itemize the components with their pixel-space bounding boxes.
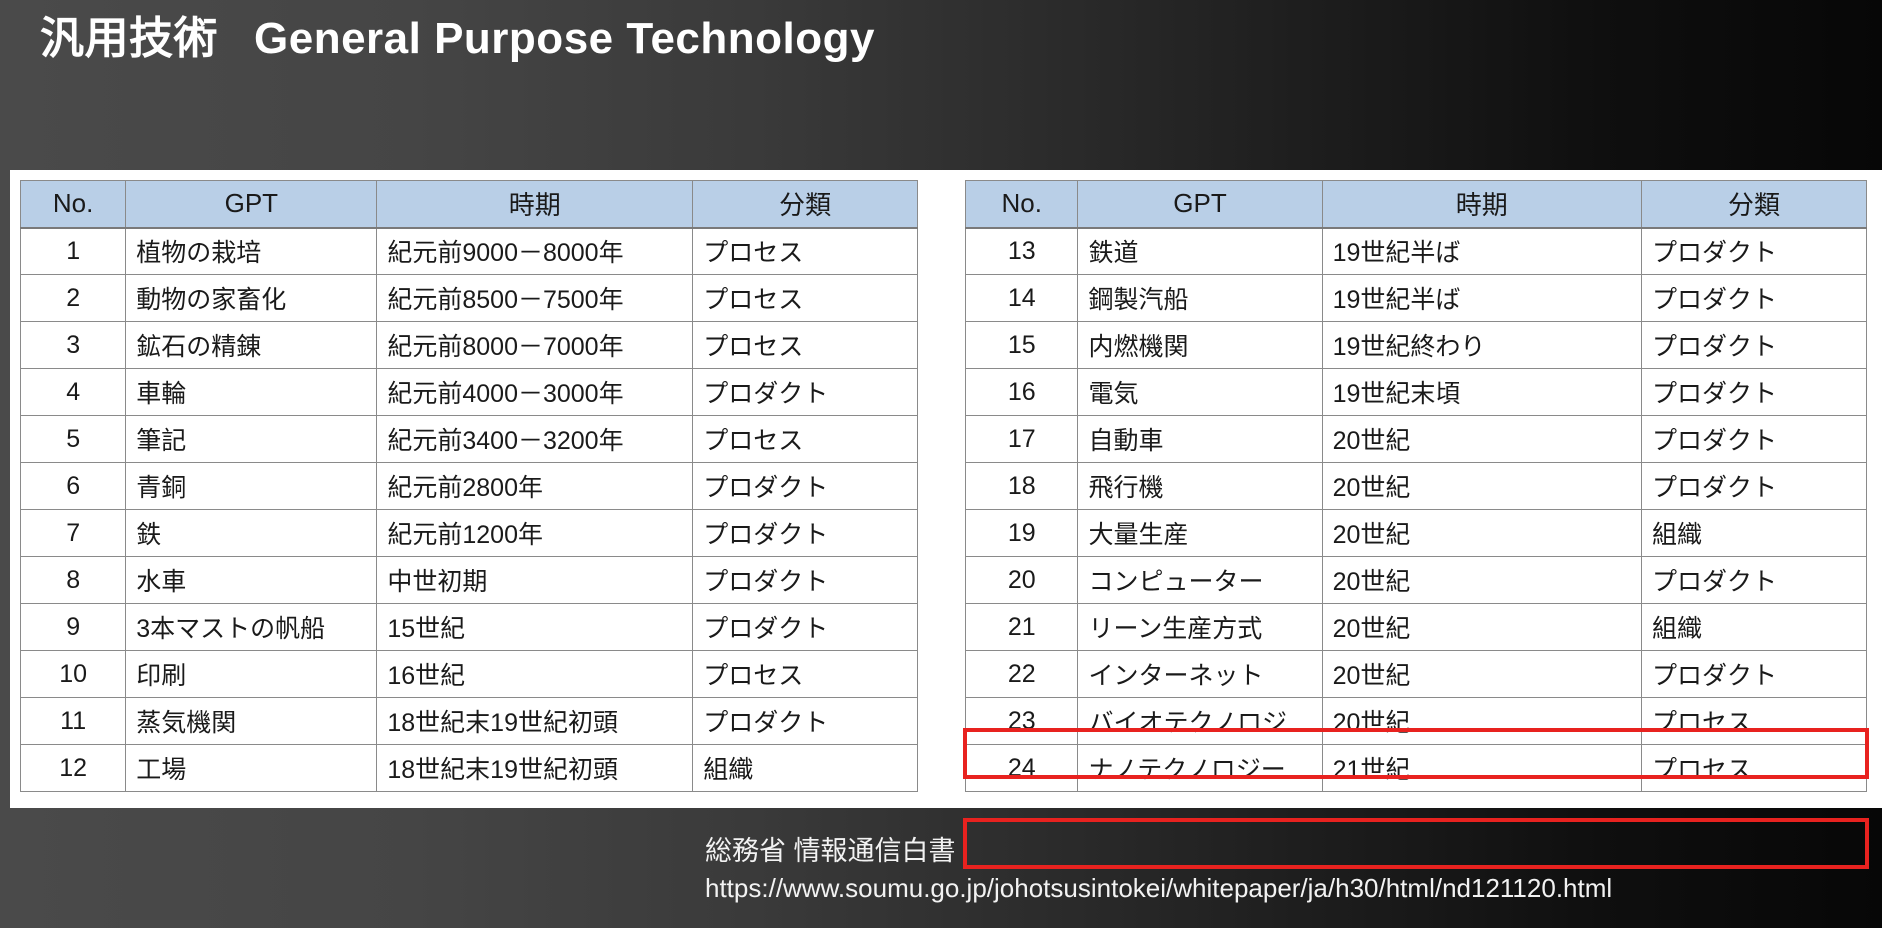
cell-no: 15	[966, 322, 1078, 369]
cell-no: 20	[966, 557, 1078, 604]
table-row: 12工場18世紀末19世紀初頭組織	[21, 745, 918, 792]
cell-no: 3	[21, 322, 126, 369]
cell-gpt: コンピューター	[1078, 557, 1322, 604]
table-row: 7鉄紀元前1200年プロダクト	[21, 510, 918, 557]
cell-no: 19	[966, 510, 1078, 557]
table-row: 24ナノテクノロジー21世紀プロセス	[966, 745, 1867, 792]
table-row: 1植物の栽培紀元前9000－8000年プロセス	[21, 228, 918, 275]
table-row: 2動物の家畜化紀元前8500－7500年プロセス	[21, 275, 918, 322]
cell-class: プロダクト	[1641, 416, 1866, 463]
cell-gpt: 鉄	[126, 510, 377, 557]
cell-gpt: バイオテクノロジ	[1078, 698, 1322, 745]
table-row: 20コンピューター20世紀プロダクト	[966, 557, 1867, 604]
cell-class: プロダクト	[1641, 228, 1866, 275]
tables-panel: No. GPT 時期 分類 1植物の栽培紀元前9000－8000年プロセス2動物…	[10, 170, 1882, 808]
table-row: 23バイオテクノロジ20世紀プロセス	[966, 698, 1867, 745]
cell-time: 紀元前2800年	[377, 463, 693, 510]
table-row: 19大量生産20世紀組織	[966, 510, 1867, 557]
cell-class: プロセス	[693, 651, 918, 698]
cell-gpt: ナノテクノロジー	[1078, 745, 1322, 792]
cell-gpt: リーン生産方式	[1078, 604, 1322, 651]
cell-no: 4	[21, 369, 126, 416]
source-citation: 総務省 情報通信白書 https://www.soumu.go.jp/johot…	[705, 833, 1612, 907]
cell-gpt: 印刷	[126, 651, 377, 698]
cell-class: 組織	[1641, 510, 1866, 557]
cell-time: 18世紀末19世紀初頭	[377, 698, 693, 745]
header-gpt: GPT	[126, 181, 377, 228]
cell-gpt: 自動車	[1078, 416, 1322, 463]
cell-class: プロダクト	[1641, 651, 1866, 698]
cell-gpt: 植物の栽培	[126, 228, 377, 275]
cell-time: 紀元前8500－7500年	[377, 275, 693, 322]
cell-time: 紀元前8000－7000年	[377, 322, 693, 369]
cell-gpt: 工場	[126, 745, 377, 792]
cell-time: 18世紀末19世紀初頭	[377, 745, 693, 792]
cell-no: 6	[21, 463, 126, 510]
cell-time: 20世紀	[1322, 510, 1641, 557]
cell-class: プロダクト	[1641, 322, 1866, 369]
cell-gpt: 動物の家畜化	[126, 275, 377, 322]
cell-time: 紀元前9000－8000年	[377, 228, 693, 275]
cell-no: 7	[21, 510, 126, 557]
table-row: 10印刷16世紀プロセス	[21, 651, 918, 698]
table-row: 4車輪紀元前4000－3000年プロダクト	[21, 369, 918, 416]
cell-gpt: 蒸気機関	[126, 698, 377, 745]
cell-no: 8	[21, 557, 126, 604]
cell-time: 20世紀	[1322, 698, 1641, 745]
cell-no: 16	[966, 369, 1078, 416]
table-right-body: 13鉄道19世紀半ばプロダクト14鋼製汽船19世紀半ばプロダクト15内燃機関19…	[966, 228, 1867, 792]
page-title-japanese: 汎用技術	[40, 14, 218, 63]
cell-no: 22	[966, 651, 1078, 698]
table-row: 15内燃機関19世紀終わりプロダクト	[966, 322, 1867, 369]
header-time: 時期	[1322, 181, 1641, 228]
cell-class: プロセス	[1641, 698, 1866, 745]
header-time: 時期	[377, 181, 693, 228]
table-right-head: No. GPT 時期 分類	[966, 181, 1867, 228]
cell-time: 20世紀	[1322, 416, 1641, 463]
cell-no: 17	[966, 416, 1078, 463]
cell-time: 紀元前3400－3200年	[377, 416, 693, 463]
cell-no: 1	[21, 228, 126, 275]
cell-time: 20世紀	[1322, 604, 1641, 651]
table-left-header-row: No. GPT 時期 分類	[21, 181, 918, 228]
cell-gpt: 大量生産	[1078, 510, 1322, 557]
header-no: No.	[966, 181, 1078, 228]
table-row: 14鋼製汽船19世紀半ばプロダクト	[966, 275, 1867, 322]
cell-gpt: 筆記	[126, 416, 377, 463]
cell-gpt: 電気	[1078, 369, 1322, 416]
table-row: 3鉱石の精錬紀元前8000－7000年プロセス	[21, 322, 918, 369]
cell-class: プロダクト	[693, 604, 918, 651]
cell-gpt: 車輪	[126, 369, 377, 416]
page-title: 汎用技術General Purpose Technology	[40, 8, 875, 70]
table-row: 5筆記紀元前3400－3200年プロセス	[21, 416, 918, 463]
cell-time: 中世初期	[377, 557, 693, 604]
cell-no: 2	[21, 275, 126, 322]
cell-class: プロダクト	[693, 463, 918, 510]
cell-no: 11	[21, 698, 126, 745]
cell-class: プロダクト	[1641, 557, 1866, 604]
cell-class: プロセス	[1641, 745, 1866, 792]
cell-no: 12	[21, 745, 126, 792]
cell-no: 24	[966, 745, 1078, 792]
table-row: 93本マストの帆船15世紀プロダクト	[21, 604, 918, 651]
gpt-table-right: No. GPT 時期 分類 13鉄道19世紀半ばプロダクト14鋼製汽船19世紀半…	[965, 180, 1867, 792]
cell-time: 19世紀半ば	[1322, 275, 1641, 322]
cell-time: 19世紀末頃	[1322, 369, 1641, 416]
cell-no: 9	[21, 604, 126, 651]
cell-class: プロセス	[693, 322, 918, 369]
header-class: 分類	[1641, 181, 1866, 228]
cell-class: プロセス	[693, 275, 918, 322]
table-left-body: 1植物の栽培紀元前9000－8000年プロセス2動物の家畜化紀元前8500－75…	[21, 228, 918, 792]
source-url[interactable]: https://www.soumu.go.jp/johotsusintokei/…	[705, 870, 1612, 907]
table-row: 22インターネット20世紀プロダクト	[966, 651, 1867, 698]
table-right-header-row: No. GPT 時期 分類	[966, 181, 1867, 228]
header-class: 分類	[693, 181, 918, 228]
cell-class: プロダクト	[693, 369, 918, 416]
cell-class: 組織	[693, 745, 918, 792]
cell-no: 5	[21, 416, 126, 463]
cell-no: 14	[966, 275, 1078, 322]
table-row: 17自動車20世紀プロダクト	[966, 416, 1867, 463]
cell-time: 15世紀	[377, 604, 693, 651]
cell-no: 10	[21, 651, 126, 698]
cell-time: 20世紀	[1322, 463, 1641, 510]
cell-time: 16世紀	[377, 651, 693, 698]
cell-no: 13	[966, 228, 1078, 275]
cell-gpt: インターネット	[1078, 651, 1322, 698]
header-no: No.	[21, 181, 126, 228]
cell-class: プロダクト	[693, 557, 918, 604]
source-publisher: 総務省 情報通信白書	[705, 833, 1612, 870]
cell-gpt: 鉱石の精錬	[126, 322, 377, 369]
cell-class: 組織	[1641, 604, 1866, 651]
gpt-table-left: No. GPT 時期 分類 1植物の栽培紀元前9000－8000年プロセス2動物…	[20, 180, 918, 792]
cell-time: 19世紀半ば	[1322, 228, 1641, 275]
cell-class: プロダクト	[693, 510, 918, 557]
cell-gpt: 3本マストの帆船	[126, 604, 377, 651]
header-gpt: GPT	[1078, 181, 1322, 228]
cell-class: プロダクト	[1641, 463, 1866, 510]
table-row: 6青銅紀元前2800年プロダクト	[21, 463, 918, 510]
cell-class: プロセス	[693, 416, 918, 463]
cell-time: 20世紀	[1322, 557, 1641, 604]
cell-class: プロダクト	[693, 698, 918, 745]
cell-no: 21	[966, 604, 1078, 651]
cell-time: 21世紀	[1322, 745, 1641, 792]
cell-time: 19世紀終わり	[1322, 322, 1641, 369]
cell-class: プロセス	[693, 228, 918, 275]
table-row: 18飛行機20世紀プロダクト	[966, 463, 1867, 510]
cell-gpt: 青銅	[126, 463, 377, 510]
cell-time: 紀元前4000－3000年	[377, 369, 693, 416]
cell-class: プロダクト	[1641, 369, 1866, 416]
table-row: 16電気19世紀末頃プロダクト	[966, 369, 1867, 416]
page-title-english: General Purpose Technology	[254, 14, 875, 63]
cell-class: プロダクト	[1641, 275, 1866, 322]
cell-no: 18	[966, 463, 1078, 510]
cell-gpt: 飛行機	[1078, 463, 1322, 510]
table-left-head: No. GPT 時期 分類	[21, 181, 918, 228]
cell-no: 23	[966, 698, 1078, 745]
cell-gpt: 鋼製汽船	[1078, 275, 1322, 322]
table-row: 21リーン生産方式20世紀組織	[966, 604, 1867, 651]
cell-gpt: 水車	[126, 557, 377, 604]
table-row: 8水車中世初期プロダクト	[21, 557, 918, 604]
cell-gpt: 内燃機関	[1078, 322, 1322, 369]
table-row: 13鉄道19世紀半ばプロダクト	[966, 228, 1867, 275]
cell-time: 20世紀	[1322, 651, 1641, 698]
cell-time: 紀元前1200年	[377, 510, 693, 557]
slide-canvas: 汎用技術General Purpose Technology No. GPT 時…	[0, 0, 1882, 928]
table-row: 11蒸気機関18世紀末19世紀初頭プロダクト	[21, 698, 918, 745]
cell-gpt: 鉄道	[1078, 228, 1322, 275]
